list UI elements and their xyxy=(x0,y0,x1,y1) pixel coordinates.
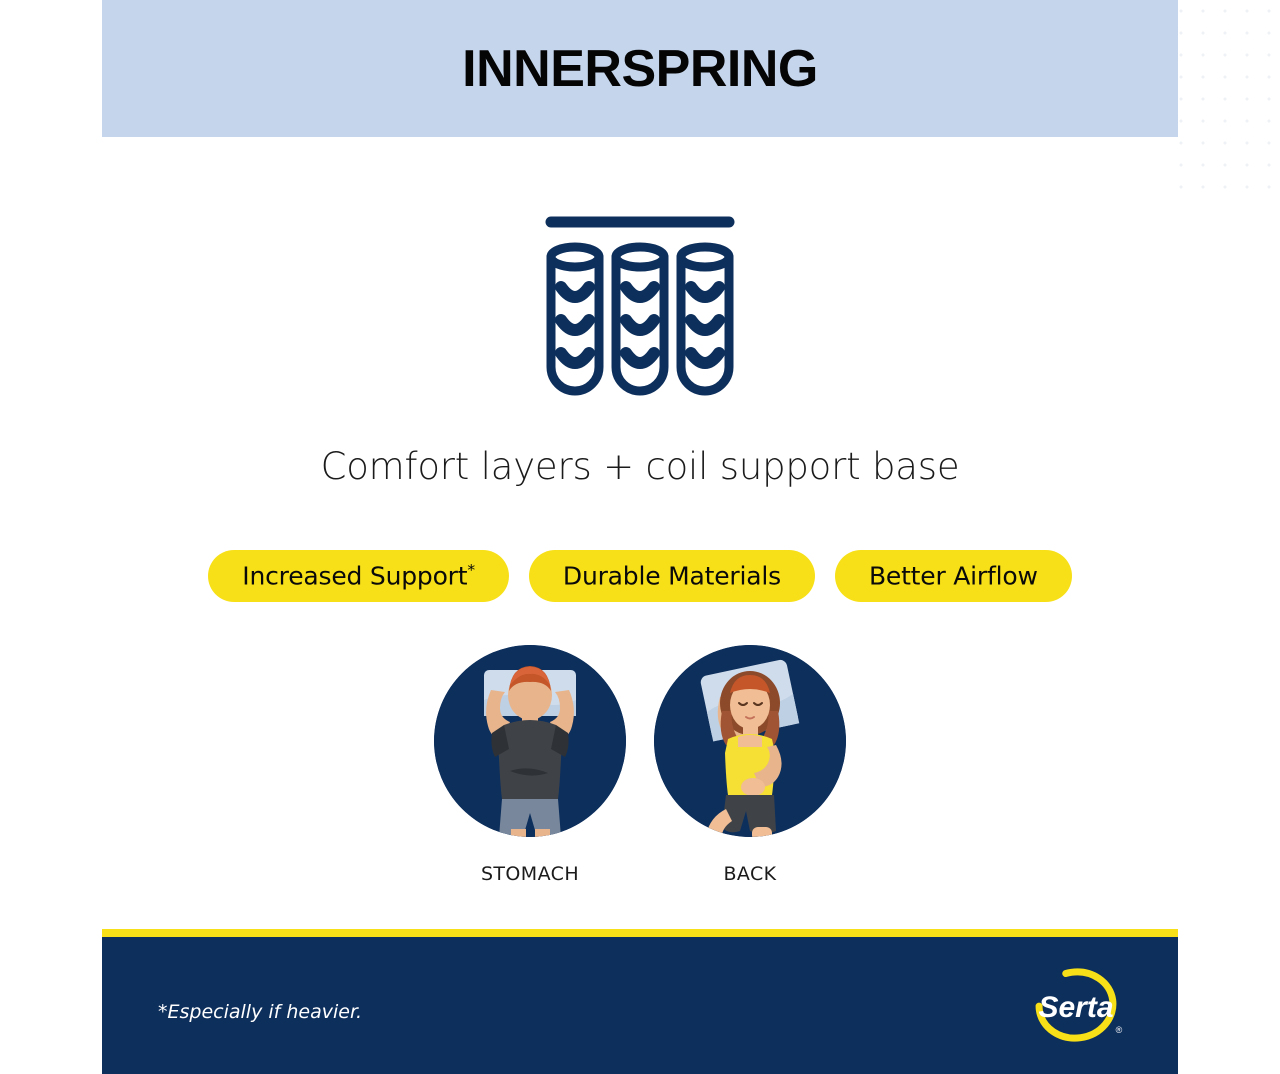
stomach-sleeper-illustration xyxy=(434,645,626,837)
background-dot-pattern xyxy=(1170,0,1280,200)
coil-icon-container xyxy=(102,205,1178,405)
serta-wordmark: Serta xyxy=(1038,991,1113,1024)
feature-pill-label: Increased Support* xyxy=(242,561,475,590)
position-circle xyxy=(434,645,626,837)
sleep-position-back[interactable]: BACK xyxy=(654,645,846,885)
feature-pill-increased-support[interactable]: Increased Support* xyxy=(208,550,509,602)
sleep-position-label: BACK xyxy=(723,863,776,885)
feature-pill-list: Increased Support* Durable Materials Bet… xyxy=(102,550,1178,602)
card-body: Comfort layers + coil support base Incre… xyxy=(102,137,1178,929)
sleep-position-stomach[interactable]: STOMACH xyxy=(434,645,626,885)
card-footer: *Especially if heavier. Serta ® xyxy=(102,929,1178,1074)
feature-pill-durable-materials[interactable]: Durable Materials xyxy=(529,550,815,602)
sleep-position-list: STOMACH xyxy=(102,645,1178,885)
feature-pill-label: Durable Materials xyxy=(563,561,781,590)
footnote-marker: * xyxy=(467,561,475,579)
back-sleeper-illustration xyxy=(654,645,846,837)
position-circle xyxy=(654,645,846,837)
page-title: INNERSPRING xyxy=(462,39,818,99)
registered-mark: ® xyxy=(1116,1025,1123,1035)
card-header: INNERSPRING xyxy=(102,0,1178,137)
innerspring-info-card: INNERSPRING xyxy=(102,0,1178,1074)
coil-support-icon xyxy=(540,205,740,405)
subtitle: Comfort layers + coil support base xyxy=(102,445,1178,488)
serta-logo: Serta ® xyxy=(1026,967,1130,1043)
feature-pill-label: Better Airflow xyxy=(869,561,1038,590)
sleep-position-label: STOMACH xyxy=(481,863,579,885)
footnote-text: *Especially if heavier. xyxy=(158,1001,362,1023)
feature-pill-better-airflow[interactable]: Better Airflow xyxy=(835,550,1072,602)
